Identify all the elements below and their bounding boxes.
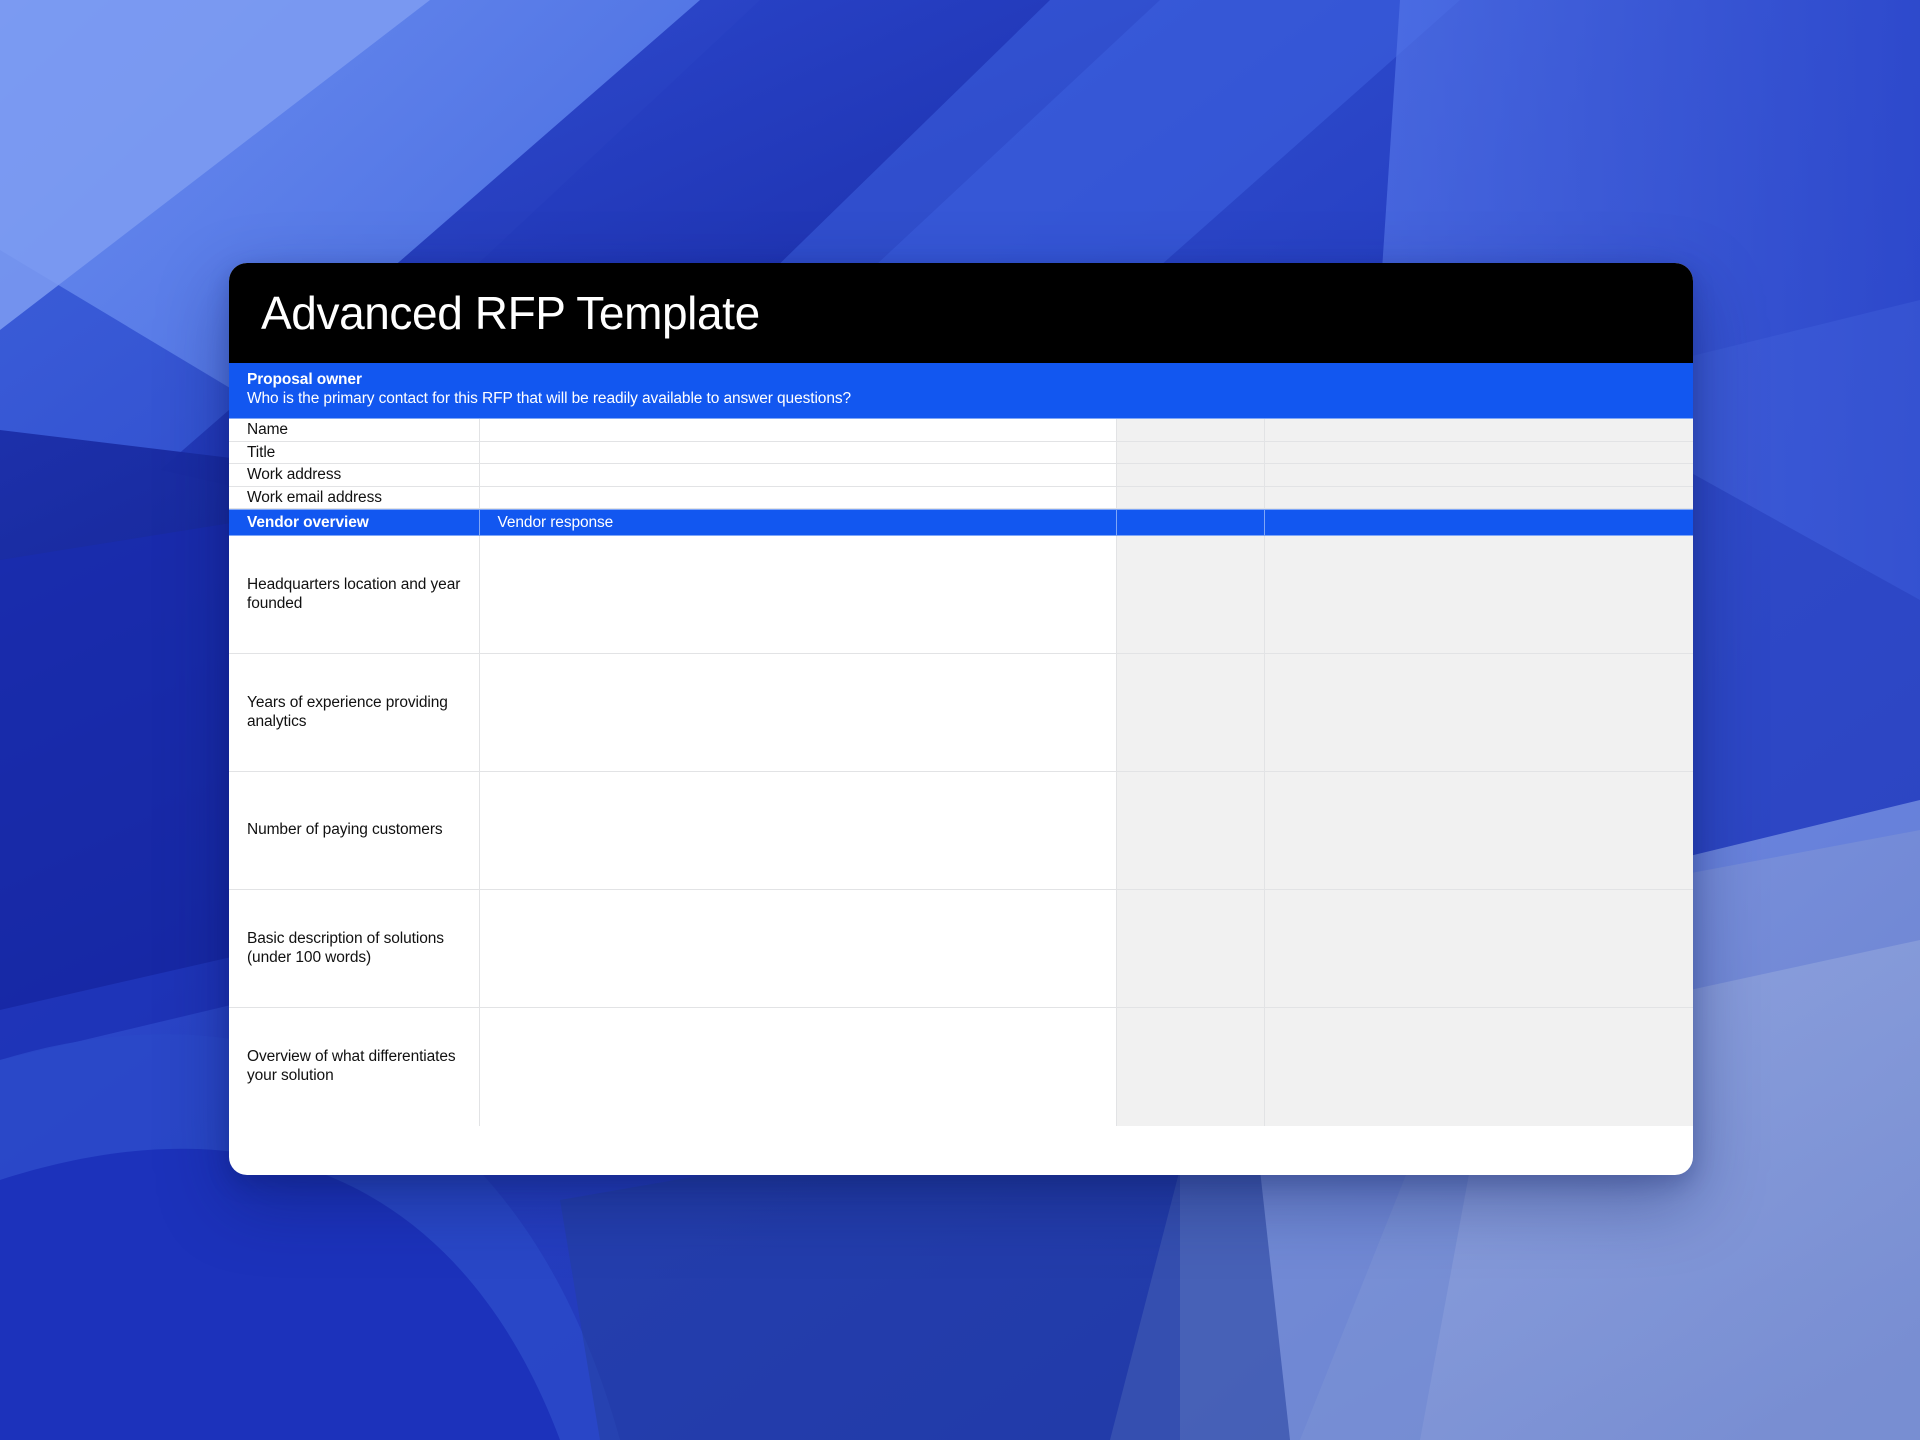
- response-cell-differentiators[interactable]: [479, 1008, 1116, 1126]
- contact-extra-col4-work-email[interactable]: [1264, 486, 1693, 509]
- vendor-overview-header-row: Vendor overview Vendor response: [229, 510, 1693, 536]
- table-row: Work email address: [229, 486, 1693, 509]
- table-row: Overview of what differentiates your sol…: [229, 1008, 1693, 1126]
- extra-cell-col3-paying-customers[interactable]: [1116, 772, 1264, 890]
- contact-extra-col4-title[interactable]: [1264, 441, 1693, 464]
- column-header-vendor-overview: Vendor overview: [229, 510, 479, 536]
- response-cell-paying-customers[interactable]: [479, 772, 1116, 890]
- contact-extra-col4-work-address[interactable]: [1264, 464, 1693, 487]
- rfp-document-card: Advanced RFP Template Proposal owner Who…: [229, 263, 1693, 1175]
- contact-extra-col3-work-address[interactable]: [1116, 464, 1264, 487]
- column-header-col3: [1116, 510, 1264, 536]
- extra-cell-col4-basic-description[interactable]: [1264, 890, 1693, 1008]
- extra-cell-col3-differentiators[interactable]: [1116, 1008, 1264, 1126]
- column-header-col4: [1264, 510, 1693, 536]
- extra-cell-col3-headquarters[interactable]: [1116, 536, 1264, 654]
- response-cell-years-experience[interactable]: [479, 654, 1116, 772]
- column-header-vendor-response: Vendor response: [479, 510, 1116, 536]
- question-label-differentiators: Overview of what differentiates your sol…: [229, 1008, 479, 1126]
- contact-extra-col3-name[interactable]: [1116, 419, 1264, 442]
- proposal-owner-table: Name Title Work address Work email addre…: [229, 419, 1693, 510]
- proposal-owner-banner: Proposal owner Who is the primary contac…: [229, 363, 1693, 419]
- question-label-paying-customers: Number of paying customers: [229, 772, 479, 890]
- contact-label-name: Name: [229, 419, 479, 442]
- contact-label-work-address: Work address: [229, 464, 479, 487]
- contact-value-work-address[interactable]: [479, 464, 1116, 487]
- extra-cell-col4-years-experience[interactable]: [1264, 654, 1693, 772]
- extra-cell-col3-basic-description[interactable]: [1116, 890, 1264, 1008]
- contact-value-work-email-address[interactable]: [479, 486, 1116, 509]
- contact-label-work-email-address: Work email address: [229, 486, 479, 509]
- table-row: Years of experience providing analytics: [229, 654, 1693, 772]
- contact-extra-col4-name[interactable]: [1264, 419, 1693, 442]
- extra-cell-col4-differentiators[interactable]: [1264, 1008, 1693, 1126]
- table-row: Work address: [229, 464, 1693, 487]
- table-row: Basic description of solutions (under 10…: [229, 890, 1693, 1008]
- question-label-years-experience: Years of experience providing analytics: [229, 654, 479, 772]
- extra-cell-col3-years-experience[interactable]: [1116, 654, 1264, 772]
- document-title-bar: Advanced RFP Template: [229, 263, 1693, 363]
- response-cell-headquarters[interactable]: [479, 536, 1116, 654]
- contact-extra-col3-work-email[interactable]: [1116, 486, 1264, 509]
- contact-value-name[interactable]: [479, 419, 1116, 442]
- proposal-owner-banner-subtitle: Who is the primary contact for this RFP …: [247, 390, 1693, 409]
- page-title: Advanced RFP Template: [261, 290, 760, 336]
- contact-label-title: Title: [229, 441, 479, 464]
- contact-value-title[interactable]: [479, 441, 1116, 464]
- question-label-headquarters: Headquarters location and year founded: [229, 536, 479, 654]
- vendor-overview-table: Vendor overview Vendor response Headquar…: [229, 509, 1693, 1126]
- contact-extra-col3-title[interactable]: [1116, 441, 1264, 464]
- question-label-basic-description: Basic description of solutions (under 10…: [229, 890, 479, 1008]
- table-row: Headquarters location and year founded: [229, 536, 1693, 654]
- table-row: Title: [229, 441, 1693, 464]
- table-row: Name: [229, 419, 1693, 442]
- proposal-owner-banner-title: Proposal owner: [247, 371, 1693, 390]
- extra-cell-col4-paying-customers[interactable]: [1264, 772, 1693, 890]
- response-cell-basic-description[interactable]: [479, 890, 1116, 1008]
- table-row: Number of paying customers: [229, 772, 1693, 890]
- extra-cell-col4-headquarters[interactable]: [1264, 536, 1693, 654]
